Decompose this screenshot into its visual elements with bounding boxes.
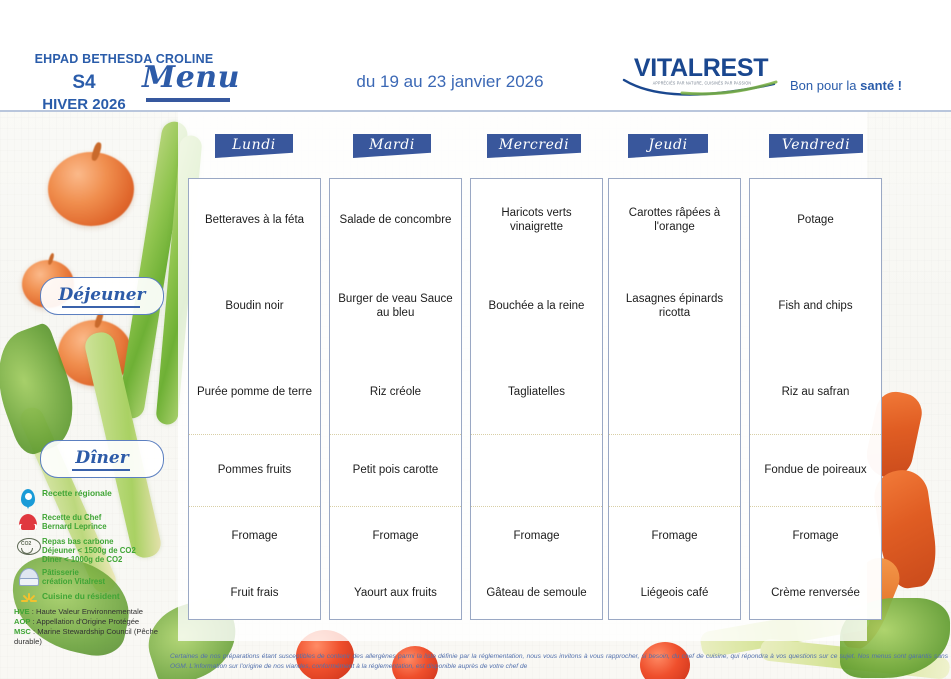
menu-cell: Riz créole	[330, 351, 461, 435]
menu-column-lundi: Betteraves à la fétaBoudin noirPurée pom…	[188, 178, 321, 620]
abbreviation-text: : Marine Stewardship Council (Pêche dura…	[14, 627, 158, 646]
onion-photo	[48, 152, 134, 226]
menu-cell: Fromage	[750, 507, 881, 565]
week-code: S4	[24, 72, 144, 94]
menu-cell: Tagliatelles	[471, 351, 602, 435]
dejeuner-underline	[62, 306, 140, 308]
menu-cell: Potage	[750, 179, 881, 261]
allergen-disclaimer: Certaines de nos préparations étant susc…	[170, 652, 948, 672]
claim-prefix: Bon pour la	[790, 78, 860, 93]
date-range: du 19 au 23 janvier 2026	[300, 72, 600, 92]
legend-line: création Vitalrest	[42, 577, 105, 586]
menu-cell: Lasagnes épinards ricotta	[609, 261, 740, 351]
menu-cell: Boudin noir	[189, 261, 320, 351]
menu-cell: Riz au safran	[750, 351, 881, 435]
legend-item: Recette régionale	[14, 488, 182, 510]
legend-item-label: Pâtisseriecréation Vitalrest	[42, 567, 105, 586]
health-claim: Bon pour la santé !	[790, 78, 940, 93]
chef-hat-blue-icon	[14, 567, 42, 589]
menu-cell: Haricots verts vinaigrette	[471, 179, 602, 261]
menu-cell: Salade de concombre	[330, 179, 461, 261]
legend-panel: Recette régionaleRecette du ChefBernard …	[14, 488, 182, 615]
legend-item-label: Recette régionale	[42, 488, 112, 499]
legend-item: Pâtisseriecréation Vitalrest	[14, 567, 182, 589]
logo-wordmark: VITALREST	[628, 54, 774, 83]
legend-line: Repas bas carbone	[42, 537, 136, 546]
menu-cell: Crème renversée	[750, 565, 881, 621]
abbreviation-key: MSC	[14, 627, 31, 636]
claim-strong: santé !	[860, 78, 902, 93]
menu-cell: Carottes râpées à l'orange	[609, 179, 740, 261]
location-pin-icon	[14, 488, 42, 510]
menu-poster: EHPAD BETHESDA CROLINE S4 HIVER 2026 Men…	[0, 0, 951, 679]
menu-cell	[609, 351, 740, 435]
menu-cell: Fruit frais	[189, 565, 320, 621]
legend-line: Déjeuner < 1500g de CO2	[42, 546, 136, 555]
legend-item-label: Repas bas carboneDéjeuner < 1500g de CO2…	[42, 536, 136, 565]
legend-item-label: Recette du ChefBernard Leprince	[42, 512, 107, 531]
menu-cell: Liégeois café	[609, 565, 740, 621]
menu-column-mardi: Salade de concombreBurger de veau Sauce …	[329, 178, 462, 620]
menu-cell: Fromage	[330, 507, 461, 565]
menu-cell: Pommes fruits	[189, 435, 320, 507]
legend-line: Bernard Leprince	[42, 522, 107, 531]
legend-line: Pâtisserie	[42, 568, 105, 577]
logo-tagline: APPRÉCIÉS PAR NATURE, CUISINÉS PAR PASSI…	[632, 81, 772, 86]
menu-cell: Fish and chips	[750, 261, 881, 351]
poster-header: EHPAD BETHESDA CROLINE S4 HIVER 2026 Men…	[0, 0, 951, 112]
vitalrest-logo: VITALREST APPRÉCIÉS PAR NATURE, CUISINÉS…	[628, 54, 774, 100]
legend-item: Recette du ChefBernard Leprince	[14, 512, 182, 534]
menu-column-jeudi: Carottes râpées à l'orangeLasagnes épina…	[608, 178, 741, 620]
menu-cell: Fondue de poireaux	[750, 435, 881, 507]
abbreviation-row: MSC : Marine Stewardship Council (Pêche …	[14, 627, 186, 647]
abbreviations-panel: HVE : Haute Valeur EnvironnementaleAOP :…	[14, 607, 186, 647]
diner-underline	[72, 469, 130, 471]
meal-badge-dejeuner: Déjeuner	[40, 277, 164, 315]
menu-cell	[609, 435, 740, 507]
legend-line: Cuisine du résident	[42, 592, 120, 602]
co2-cloud-icon: CO2	[14, 536, 42, 558]
menu-cell: Bouchée a la reine	[471, 261, 602, 351]
abbreviation-row: HVE : Haute Valeur Environnementale	[14, 607, 186, 617]
menu-cell	[471, 435, 602, 507]
menu-cell: Fromage	[609, 507, 740, 565]
legend-line: Recette régionale	[42, 489, 112, 499]
legend-item: CO2Repas bas carboneDéjeuner < 1500g de …	[14, 536, 182, 565]
header-divider	[0, 110, 951, 112]
menu-cell: Fromage	[471, 507, 602, 565]
abbreviation-key: HVE	[14, 607, 30, 616]
menu-cell: Petit pois carotte	[330, 435, 461, 507]
legend-line: Recette du Chef	[42, 513, 107, 522]
meal-badge-diner: Dîner	[40, 440, 164, 478]
menu-cell: Gâteau de semoule	[471, 565, 602, 621]
legend-item-label: Cuisine du résident	[42, 591, 120, 602]
menu-cell: Burger de veau Sauce au bleu	[330, 261, 461, 351]
menu-title-underline	[146, 98, 230, 102]
abbreviation-key: AOP	[14, 617, 30, 626]
menu-cell: Yaourt aux fruits	[330, 565, 461, 621]
abbreviation-text: : Haute Valeur Environnementale	[30, 607, 143, 616]
menu-column-vendredi: PotageFish and chipsRiz au safranFondue …	[749, 178, 882, 620]
menu-column-mercredi: Haricots verts vinaigretteBouchée a la r…	[470, 178, 603, 620]
menu-cell: Betteraves à la féta	[189, 179, 320, 261]
menu-cell: Purée pomme de terre	[189, 351, 320, 435]
menu-cell: Fromage	[189, 507, 320, 565]
abbreviation-row: AOP : Appellation d'Origine Protégée	[14, 617, 186, 627]
menu-title: Menu	[142, 60, 234, 95]
chef-hat-red-icon	[14, 512, 42, 534]
legend-line: Diner < 1000g de CO2	[42, 555, 136, 564]
abbreviation-text: : Appellation d'Origine Protégée	[30, 617, 139, 626]
